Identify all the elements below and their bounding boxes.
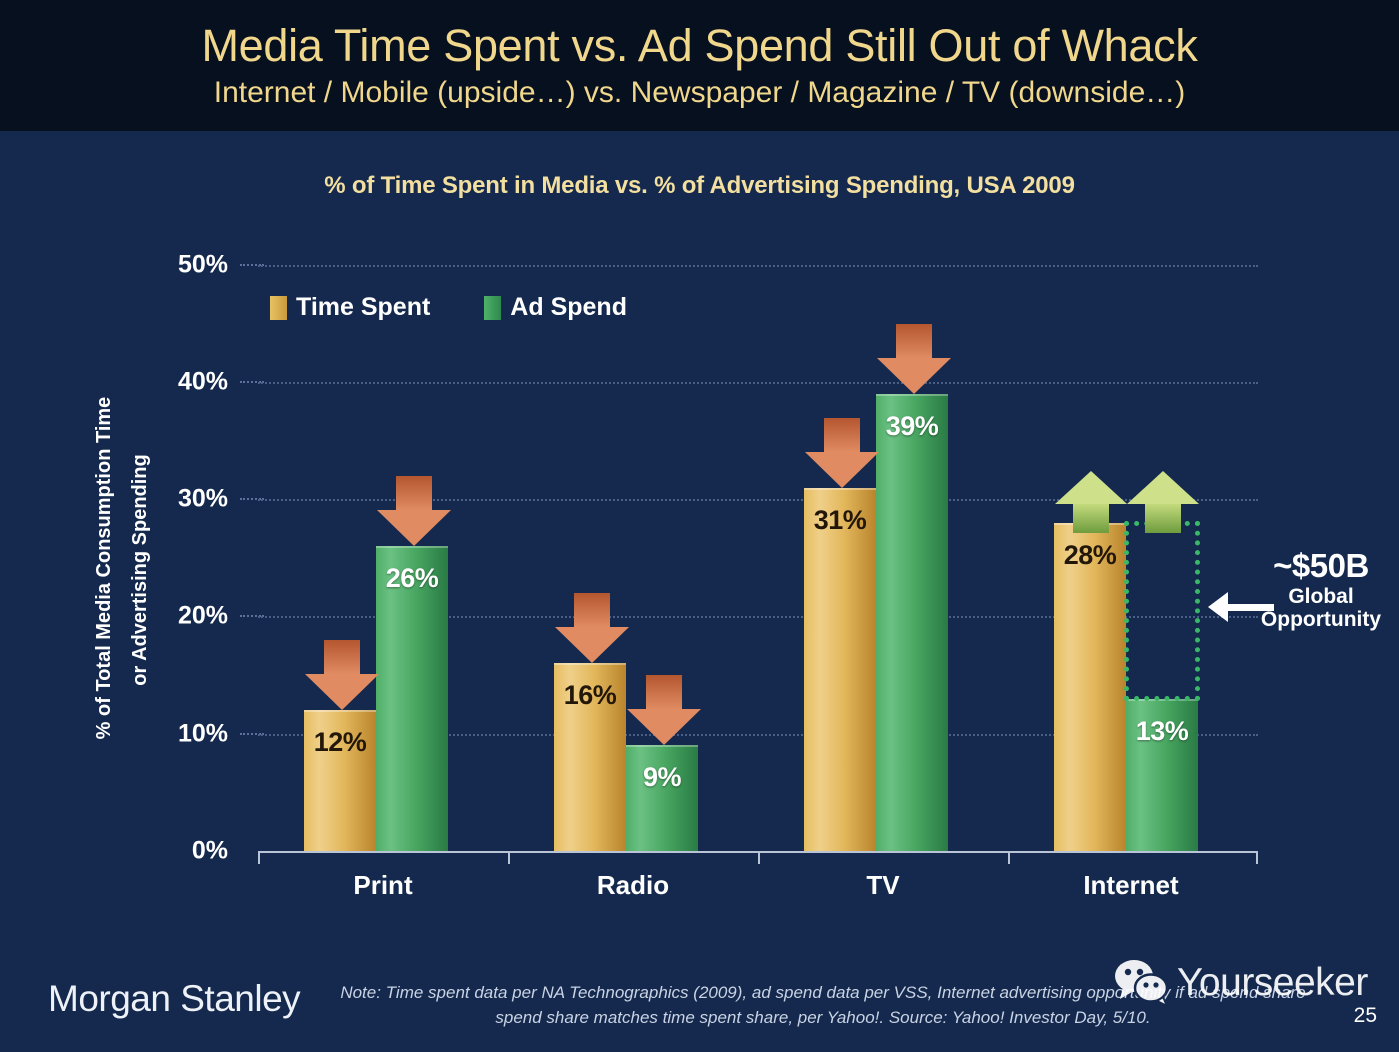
bar-radio-ad-spend[interactable]: 9% <box>626 745 698 851</box>
y-axis-title-2: or Advertising Spending <box>122 400 158 740</box>
bar-internet-ad-spend[interactable]: 13% <box>1126 699 1198 851</box>
morgan-stanley-logo: Morgan Stanley <box>48 978 300 1020</box>
x-axis-label-tv: TV <box>758 870 1008 901</box>
bar-value-radio-time-spent: 16% <box>554 680 626 711</box>
bar-value-internet-time-spent: 28% <box>1054 540 1126 571</box>
y-axis-title-line2: or Advertising Spending <box>129 454 152 686</box>
bar-value-print-ad-spend: 26% <box>376 563 448 594</box>
footnote-line-2: spend share matches time spent share, pe… <box>495 1008 1150 1027</box>
opportunity-amount: ~$50B <box>1243 548 1399 585</box>
opportunity-line3: Opportunity <box>1243 608 1399 632</box>
arrow-down-icon-print-time-spent <box>305 640 379 710</box>
watermark: Yourseeker <box>1113 959 1368 1007</box>
bar-value-tv-time-spent: 31% <box>804 505 876 536</box>
watermark-text: Yourseeker <box>1177 961 1368 1005</box>
opportunity-line2: Global <box>1243 585 1399 609</box>
y-axis-title-line1: % of Total Media Consumption Time <box>93 397 116 740</box>
y-tick-label-0: 0% <box>118 837 228 866</box>
y-axis-title: % of Total Media Consumption Time <box>86 338 122 798</box>
wechat-icon <box>1113 959 1171 1007</box>
plot-area: 12% 26% 16% 9% 31% 39% <box>258 265 1258 851</box>
slide: Media Time Spent vs. Ad Spend Still Out … <box>0 0 1399 1052</box>
arrow-up-icon-internet-ad-spend <box>1127 471 1199 533</box>
x-axis-tick-2 <box>758 851 760 864</box>
bar-value-radio-ad-spend: 9% <box>626 762 698 793</box>
arrow-down-icon-radio-time-spent <box>555 593 629 663</box>
bar-print-time-spent[interactable]: 12% <box>304 710 376 851</box>
x-axis-label-print: Print <box>258 870 508 901</box>
y-tick-label-40: 40% <box>118 368 228 397</box>
x-axis-label-radio: Radio <box>508 870 758 901</box>
page-number: 25 <box>1354 1004 1377 1028</box>
gridline-40 <box>258 382 1258 384</box>
bar-tv-ad-spend[interactable]: 39% <box>876 394 948 851</box>
bar-value-internet-ad-spend: 13% <box>1126 716 1198 747</box>
bar-print-ad-spend[interactable]: 26% <box>376 546 448 851</box>
arrow-down-icon-tv-time-spent <box>805 418 879 488</box>
arrow-down-icon-print-ad-spend <box>377 476 451 546</box>
opportunity-annotation: ~$50B Global Opportunity <box>1243 548 1399 632</box>
bar-internet-time-spent[interactable]: 28% <box>1054 523 1126 851</box>
arrow-up-icon-internet-time-spent <box>1055 471 1127 533</box>
bar-radio-time-spent[interactable]: 16% <box>554 663 626 851</box>
x-axis-label-internet: Internet <box>1006 870 1256 901</box>
arrow-down-icon-radio-ad-spend <box>627 675 701 745</box>
bar-value-print-time-spent: 12% <box>304 727 376 758</box>
bar-value-tv-ad-spend: 39% <box>876 411 948 442</box>
y-tick-label-50: 50% <box>118 251 228 280</box>
arrow-down-icon-tv-ad-spend <box>877 324 951 394</box>
x-axis-tick-3 <box>1008 851 1010 864</box>
x-axis-tick-end <box>1256 851 1258 864</box>
opportunity-box <box>1124 521 1200 701</box>
x-axis-tick-1 <box>508 851 510 864</box>
gridline-50 <box>258 265 1258 267</box>
bar-tv-time-spent[interactable]: 31% <box>804 488 876 851</box>
x-axis-tick-start <box>258 851 260 864</box>
